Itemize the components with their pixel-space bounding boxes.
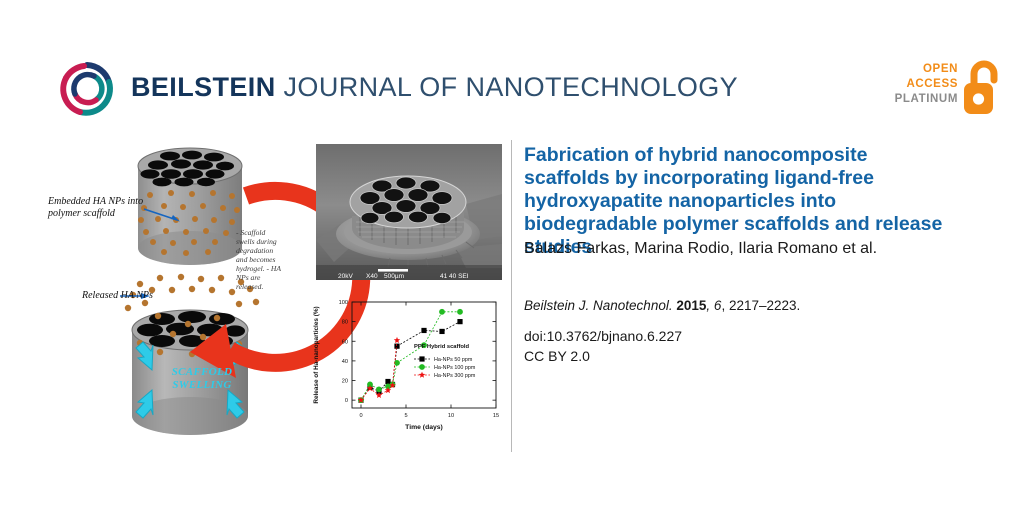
- article-citation: Beilstein J. Nanotechnol. 2015, 6, 2217–…: [524, 298, 956, 313]
- journal-brand: BEILSTEIN: [131, 72, 276, 102]
- x-tick-label: 5: [404, 413, 407, 419]
- chart-series-2: [358, 337, 400, 403]
- sem-voltage: 20kV: [338, 273, 353, 280]
- open-access-text: OPEN ACCESS PLATINUM: [895, 62, 958, 107]
- y-tick-label: 40: [342, 359, 348, 365]
- y-tick-label: 60: [342, 339, 348, 345]
- y-tick-label: 0: [345, 398, 348, 404]
- legend-item-2: Ha-NPs 300 ppm: [414, 372, 476, 379]
- x-axis-title: Time (days): [405, 424, 443, 431]
- x-tick-label: 10: [448, 413, 454, 419]
- sem-micrograph: 20kV X40 500µm 41 40 SEI: [316, 144, 502, 280]
- oa-line-platinum: PLATINUM: [895, 92, 958, 107]
- legend-title: PPF Hybrid scaffold: [414, 344, 470, 350]
- embedded-np-label: Embedded HA NPs into polymer scaffold: [48, 196, 144, 220]
- svg-text:Ha-NPs 300 ppm: Ha-NPs 300 ppm: [434, 373, 476, 379]
- svg-text:Ha-NPs 50 ppm: Ha-NPs 50 ppm: [434, 357, 473, 363]
- beilstein-spiral-logo-icon: [58, 60, 116, 118]
- release-chart: 020406080100051015Time (days)Release of …: [306, 292, 502, 450]
- sem-magnification: X40: [366, 273, 378, 280]
- citation-journal: Beilstein J. Nanotechnol.: [524, 298, 673, 313]
- svg-text:Ha-NPs 100 ppm: Ha-NPs 100 ppm: [434, 365, 476, 371]
- journal-rest: JOURNAL OF NANOTECHNOLOGY: [276, 72, 738, 102]
- degradation-note: - Scaffold swells during degradation and…: [236, 228, 284, 291]
- open-access-badge: OPEN ACCESS PLATINUM: [884, 60, 1004, 118]
- oa-line-open: OPEN: [895, 62, 958, 77]
- open-padlock-icon: [962, 60, 1004, 116]
- article-authors: Balazs Farkas, Marina Rodio, Ilaria Roma…: [524, 240, 956, 258]
- citation-year: 2015: [676, 298, 706, 313]
- x-tick-label: 0: [359, 413, 362, 419]
- column-divider: [511, 140, 512, 452]
- y-tick-label: 100: [339, 300, 348, 306]
- legend-item-0: Ha-NPs 50 ppm: [414, 356, 473, 363]
- released-np-label: Released HA NPs: [82, 290, 156, 302]
- sem-detector: 41 40 SEI: [440, 273, 469, 280]
- graphical-abstract: Embedded HA NPs into polymer scaffold Re…: [40, 138, 502, 454]
- y-tick-label: 20: [342, 379, 348, 385]
- legend-item-1: Ha-NPs 100 ppm: [414, 364, 476, 371]
- scaffold-swelling-label: SCAFFOLD SWELLING: [162, 366, 242, 392]
- y-axis-title: Release of Ha-nanoparticles (%): [313, 306, 320, 403]
- article-doi: doi:10.3762/bjnano.6.227: [524, 328, 682, 344]
- sem-scale: 500µm: [384, 273, 404, 280]
- page-header: BEILSTEIN JOURNAL OF NANOTECHNOLOGY OPEN…: [0, 0, 1024, 132]
- journal-title: BEILSTEIN JOURNAL OF NANOTECHNOLOGY: [131, 72, 738, 103]
- citation-pages: 2217–2223: [729, 298, 797, 313]
- oa-line-access: ACCESS: [895, 77, 958, 92]
- x-tick-label: 15: [493, 413, 499, 419]
- y-tick-label: 80: [342, 320, 348, 326]
- upper-scaffold-cylinder: [138, 148, 242, 265]
- article-license: CC BY 2.0: [524, 348, 590, 364]
